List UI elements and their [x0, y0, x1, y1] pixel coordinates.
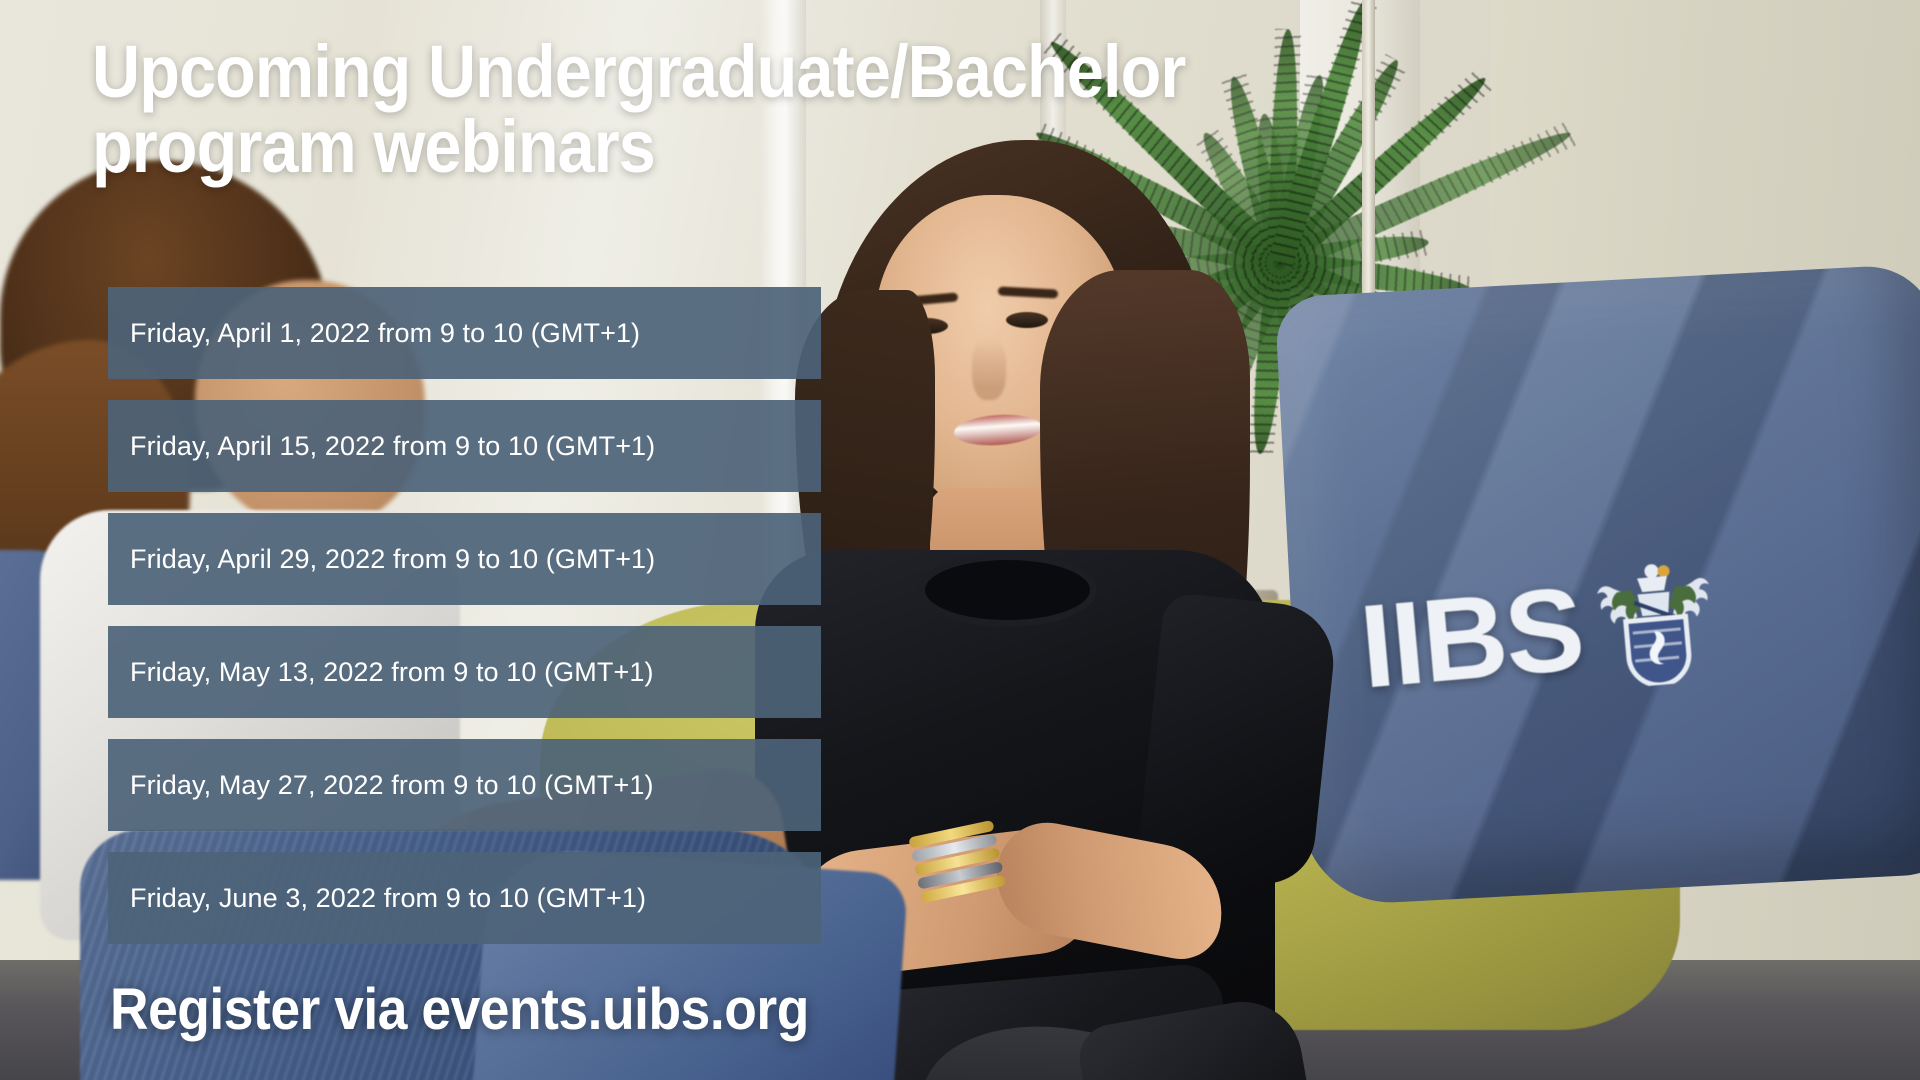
webinar-date-box[interactable]: Friday, May 27, 2022 from 9 to 10 (GMT+1… — [108, 739, 821, 831]
subject-eye-right — [1006, 312, 1048, 328]
webinar-date-box[interactable]: Friday, April 15, 2022 from 9 to 10 (GMT… — [108, 400, 821, 492]
webinar-date-text: Friday, June 3, 2022 from 9 to 10 (GMT+1… — [130, 883, 646, 914]
uibs-wordmark: IIBS — [1355, 561, 1588, 716]
webinar-date-box[interactable]: Friday, May 13, 2022 from 9 to 10 (GMT+1… — [108, 626, 821, 718]
webinar-date-text: Friday, April 15, 2022 from 9 to 10 (GMT… — [130, 431, 655, 462]
webinar-date-box[interactable]: Friday, June 3, 2022 from 9 to 10 (GMT+1… — [108, 852, 821, 944]
subject-collar — [925, 560, 1090, 620]
webinar-date-text: Friday, April 29, 2022 from 9 to 10 (GMT… — [130, 544, 655, 575]
subject-nose — [972, 338, 1006, 400]
subject-sleeve — [1136, 592, 1339, 889]
webinar-date-box[interactable]: Friday, April 1, 2022 from 9 to 10 (GMT+… — [108, 287, 821, 379]
webinar-date-box[interactable]: Friday, April 29, 2022 from 9 to 10 (GMT… — [108, 513, 821, 605]
page-title: Upcoming Undergraduate/Bachelor program … — [92, 34, 1185, 185]
webinar-date-text: Friday, April 1, 2022 from 9 to 10 (GMT+… — [130, 318, 640, 349]
webinar-date-list: Friday, April 1, 2022 from 9 to 10 (GMT+… — [108, 287, 821, 944]
webinar-date-text: Friday, May 27, 2022 from 9 to 10 (GMT+1… — [130, 770, 654, 801]
promo-slide: EU IIBS — [0, 0, 1920, 1080]
register-cta[interactable]: Register via events.uibs.org — [110, 976, 809, 1043]
uibs-pillow: IIBS — [1274, 263, 1920, 907]
webinar-date-text: Friday, May 13, 2022 from 9 to 10 (GMT+1… — [130, 657, 654, 688]
uibs-crest-icon — [1590, 554, 1721, 690]
